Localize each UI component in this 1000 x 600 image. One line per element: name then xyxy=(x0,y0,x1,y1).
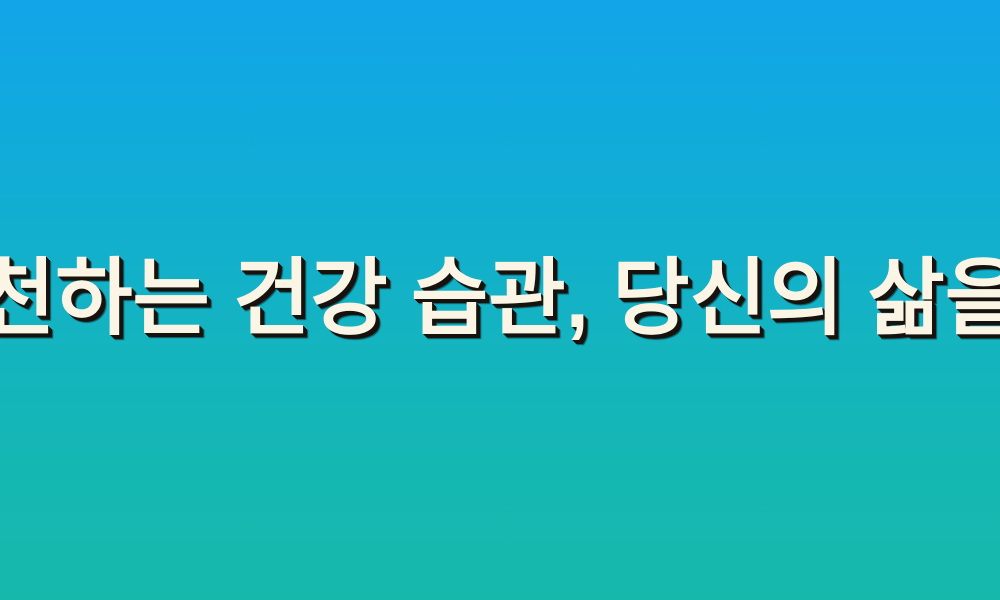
promo-banner: 일 실천하는 건강 습관, 당신의 삶을 변화 xyxy=(0,0,1000,600)
banner-headline: 일 실천하는 건강 습관, 당신의 삶을 변화 xyxy=(0,256,1000,340)
headline-container: 일 실천하는 건강 습관, 당신의 삶을 변화 xyxy=(0,0,1000,600)
